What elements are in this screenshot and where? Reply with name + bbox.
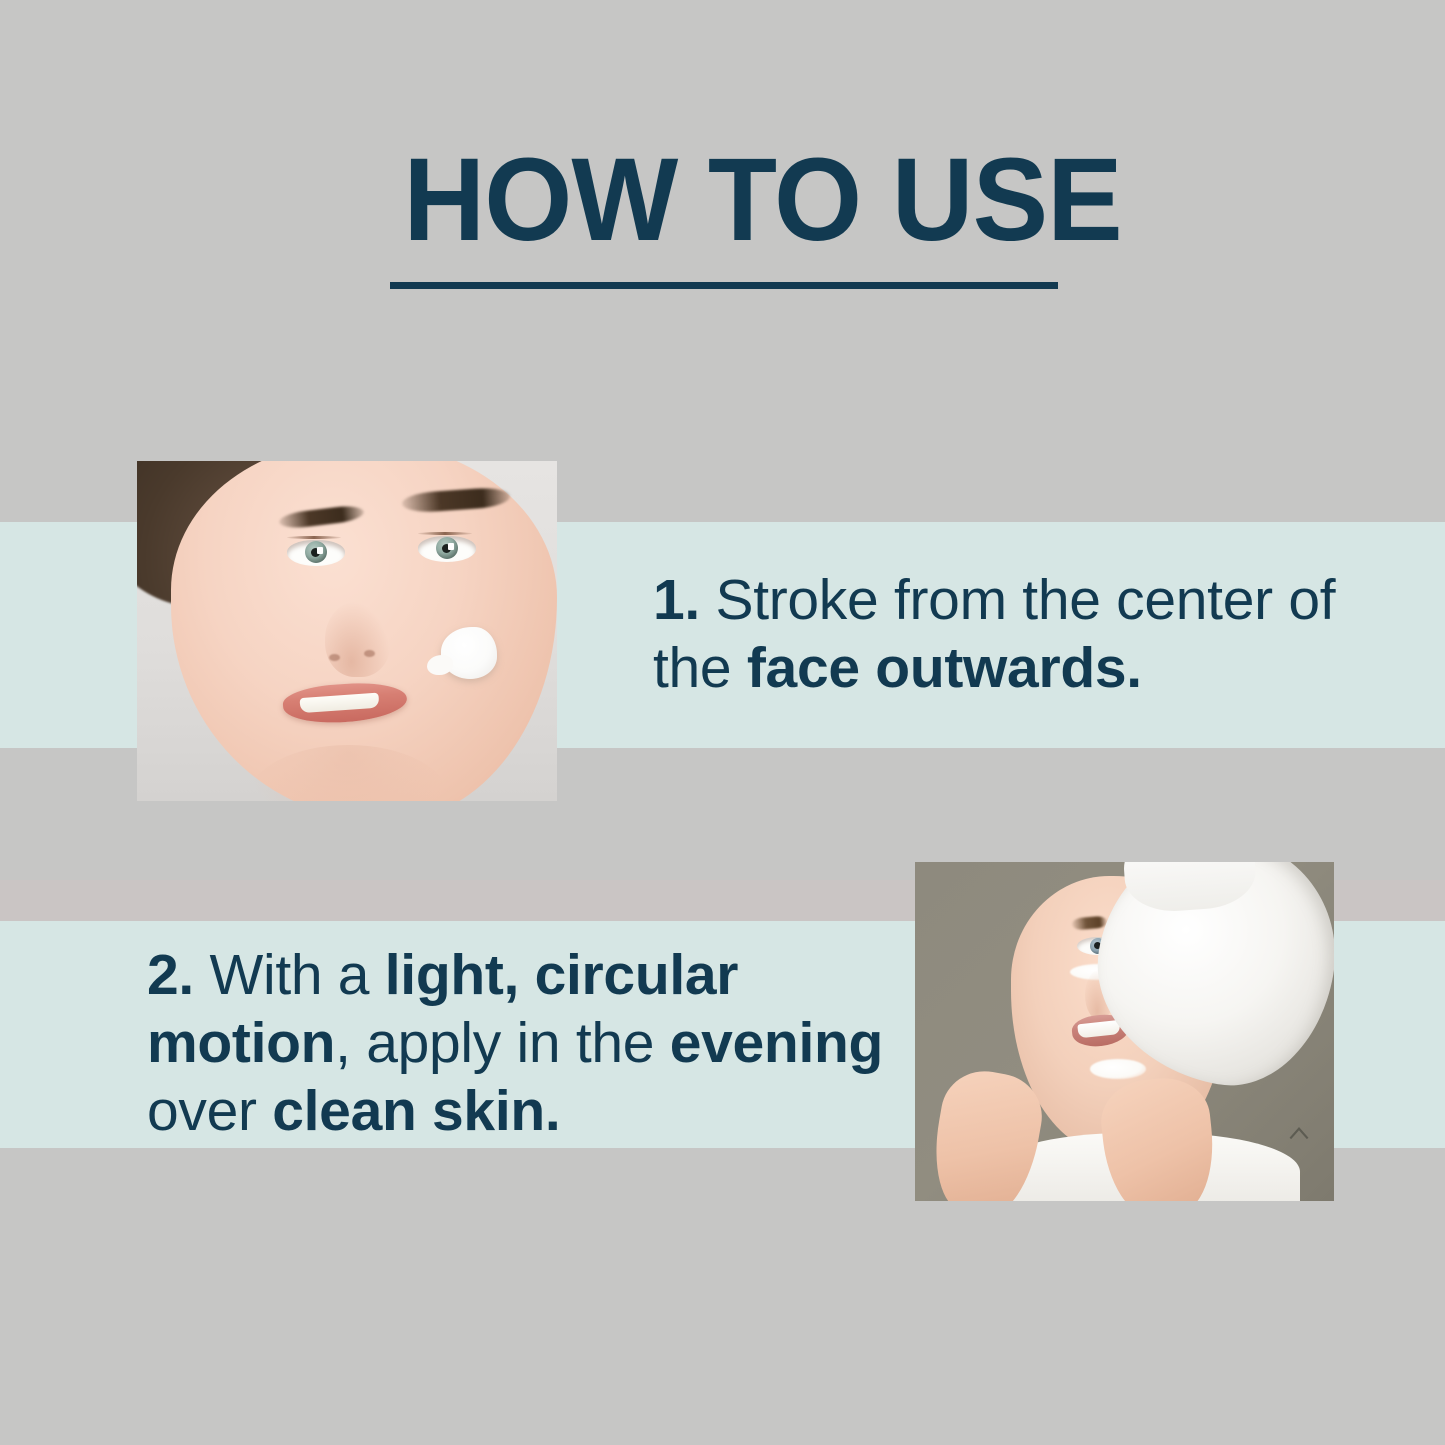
photo-1-lash-right (418, 532, 472, 535)
photo-1-eyebrow-right (402, 486, 511, 513)
title-underline-rule (390, 282, 1058, 289)
how-to-use-infographic: HOW TO USE (0, 0, 1445, 1445)
photo-1-teeth (300, 693, 380, 713)
photo-1-eye-right (418, 536, 476, 562)
page-title: HOW TO USE (403, 146, 1046, 255)
photo-1-chin-shading (248, 745, 449, 801)
step-2-instruction: 2. With a light, circular motion, apply … (147, 941, 907, 1145)
page-title-block: HOW TO USE (390, 146, 1060, 289)
photo-1-lash-left (287, 536, 341, 539)
step-1-text-bold-a: face outwards. (747, 636, 1142, 700)
step-1-number: 1. (653, 568, 700, 632)
step-2-text-bold-c: clean skin. (272, 1079, 560, 1143)
photo-1-iris-left (305, 541, 327, 563)
photo-1-face (171, 461, 557, 801)
step-2-text-plain-a: With a (194, 943, 385, 1007)
photo-1-eye-left (287, 540, 345, 566)
photo-2-cream-chin (1090, 1059, 1146, 1079)
step-2-text-bold-b: evening (670, 1011, 883, 1075)
photo-1-nostril-left (329, 654, 340, 661)
step-1-photo (137, 461, 557, 801)
photo-1-mouth (281, 680, 407, 727)
photo-2-eyebrow-left (1072, 916, 1108, 931)
step-2-text-plain-c: over (147, 1079, 272, 1143)
photo-1-cream-dab (441, 627, 497, 679)
step-2-photo (915, 862, 1334, 1201)
photo-1-eyebrow-left (278, 504, 364, 530)
photo-1-nose (325, 601, 391, 677)
photo-1-glint-left (317, 547, 323, 554)
step-1-instruction: 1. Stroke from the center of the face ou… (653, 566, 1393, 702)
photo-1-nostril-right (364, 650, 375, 657)
step-2-text-plain-b: , apply in the (335, 1011, 670, 1075)
chevron-up-icon (1286, 1120, 1312, 1146)
photo-2-teeth (1077, 1019, 1120, 1037)
photo-1-iris-right (436, 537, 458, 559)
photo-1-glint-right (448, 543, 454, 550)
step-2-number: 2. (147, 943, 194, 1007)
